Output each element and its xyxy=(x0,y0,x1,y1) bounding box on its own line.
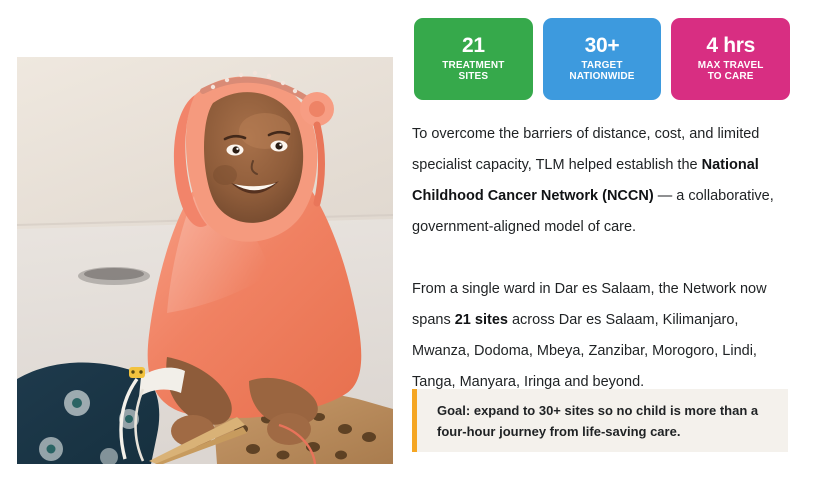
stat-label: TREATMENT SITES xyxy=(442,60,504,83)
stat-label: MAX TRAVEL TO CARE xyxy=(698,60,764,83)
stat-value: 21 xyxy=(462,35,485,57)
goal-callout: Goal: expand to 30+ sites so no child is… xyxy=(412,389,788,452)
stat-card-treatment-sites: 21 TREATMENT SITES xyxy=(414,18,533,100)
content-column: 21 TREATMENT SITES 30+ TARGET NATIONWIDE… xyxy=(412,0,790,491)
callout-text: Goal: expand to 30+ sites so no child is… xyxy=(417,400,788,442)
stat-card-max-travel-to-care: 4 hrs MAX TRAVEL TO CARE xyxy=(671,18,790,100)
stat-value: 4 hrs xyxy=(706,35,755,57)
body-copy: To overcome the barriers of distance, co… xyxy=(412,119,790,398)
hero-photo xyxy=(17,57,393,464)
page-root: 21 TREATMENT SITES 30+ TARGET NATIONWIDE… xyxy=(0,0,833,491)
stat-value: 30+ xyxy=(585,35,620,57)
paragraph-two-bold: 21 sites xyxy=(455,312,508,328)
stats-row: 21 TREATMENT SITES 30+ TARGET NATIONWIDE… xyxy=(414,18,790,100)
hero-photo-artwork xyxy=(17,57,393,464)
stat-card-target-nationwide: 30+ TARGET NATIONWIDE xyxy=(543,18,662,100)
paragraph-one: To overcome the barriers of distance, co… xyxy=(412,119,790,243)
paragraph-two: From a single ward in Dar es Salaam, the… xyxy=(412,274,790,398)
paragraph-spacer xyxy=(412,243,790,274)
stat-label: TARGET NATIONWIDE xyxy=(569,60,634,83)
